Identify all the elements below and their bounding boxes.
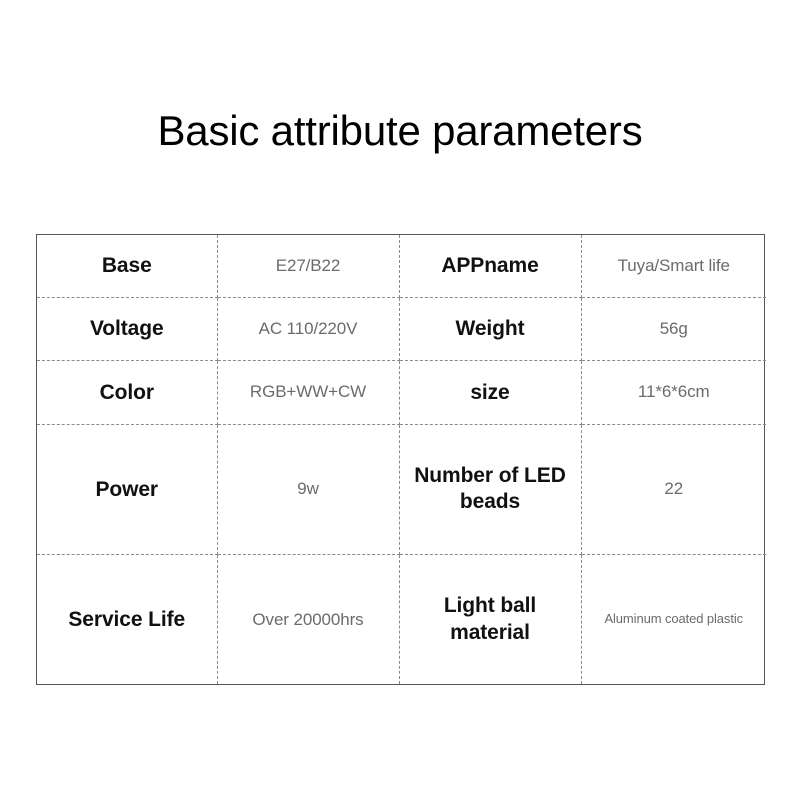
table-cell-label: Power (37, 424, 217, 555)
table-cell-value: Over 20000hrs (217, 555, 399, 684)
spec-value: Aluminum coated plastic (588, 611, 761, 628)
spec-value: 9w (224, 478, 393, 500)
spec-value: 22 (588, 478, 761, 500)
spec-label: Service Life (43, 607, 211, 633)
table-cell-label: Weight (399, 297, 581, 360)
table-cell-label: APPname (399, 235, 581, 297)
spec-label: Color (43, 380, 211, 406)
table-cell-label: Base (37, 235, 217, 297)
spec-value: E27/B22 (224, 255, 393, 277)
spec-value: 11*6*6cm (588, 381, 761, 403)
table-cell-value: 22 (581, 424, 766, 555)
spec-label: Number of LED beads (406, 463, 575, 517)
spec-label: size (406, 380, 575, 406)
page-title: Basic attribute parameters (0, 108, 800, 154)
table-cell-label: Light ball material (399, 555, 581, 684)
spec-label: Power (43, 477, 211, 503)
table-cell-value: E27/B22 (217, 235, 399, 297)
table-cell-value: AC 110/220V (217, 297, 399, 360)
table-cell-value: Aluminum coated plastic (581, 555, 766, 684)
table-cell-label: Service Life (37, 555, 217, 684)
table-row: Voltage AC 110/220V Weight 56g (37, 297, 766, 360)
specifications-table: Base E27/B22 APPname Tuya/Smart life Vol… (36, 234, 765, 685)
spec-value: 56g (588, 318, 761, 340)
spec-label: Weight (406, 316, 575, 342)
table-cell-label: Color (37, 361, 217, 424)
table-row: Service Life Over 20000hrs Light ball ma… (37, 555, 766, 684)
table-cell-value: RGB+WW+CW (217, 361, 399, 424)
spec-value: Tuya/Smart life (588, 255, 761, 277)
table-cell-value: 11*6*6cm (581, 361, 766, 424)
table-cell-value: 56g (581, 297, 766, 360)
table-cell-value: Tuya/Smart life (581, 235, 766, 297)
table-cell-value: 9w (217, 424, 399, 555)
spec-label: Base (43, 253, 211, 279)
table-cell-label: Number of LED beads (399, 424, 581, 555)
spec-label: Light ball material (406, 593, 575, 647)
spec-value: RGB+WW+CW (224, 381, 393, 403)
spec-value: AC 110/220V (224, 318, 393, 340)
table-cell-label: size (399, 361, 581, 424)
table-row: Color RGB+WW+CW size 11*6*6cm (37, 361, 766, 424)
spec-value: Over 20000hrs (224, 609, 393, 631)
spec-label: Voltage (43, 316, 211, 342)
spec-sheet-page: Basic attribute parameters Base E27/B22 … (0, 0, 800, 800)
table-row: Base E27/B22 APPname Tuya/Smart life (37, 235, 766, 297)
table-row: Power 9w Number of LED beads 22 (37, 424, 766, 555)
table-cell-label: Voltage (37, 297, 217, 360)
spec-label: APPname (406, 253, 575, 279)
